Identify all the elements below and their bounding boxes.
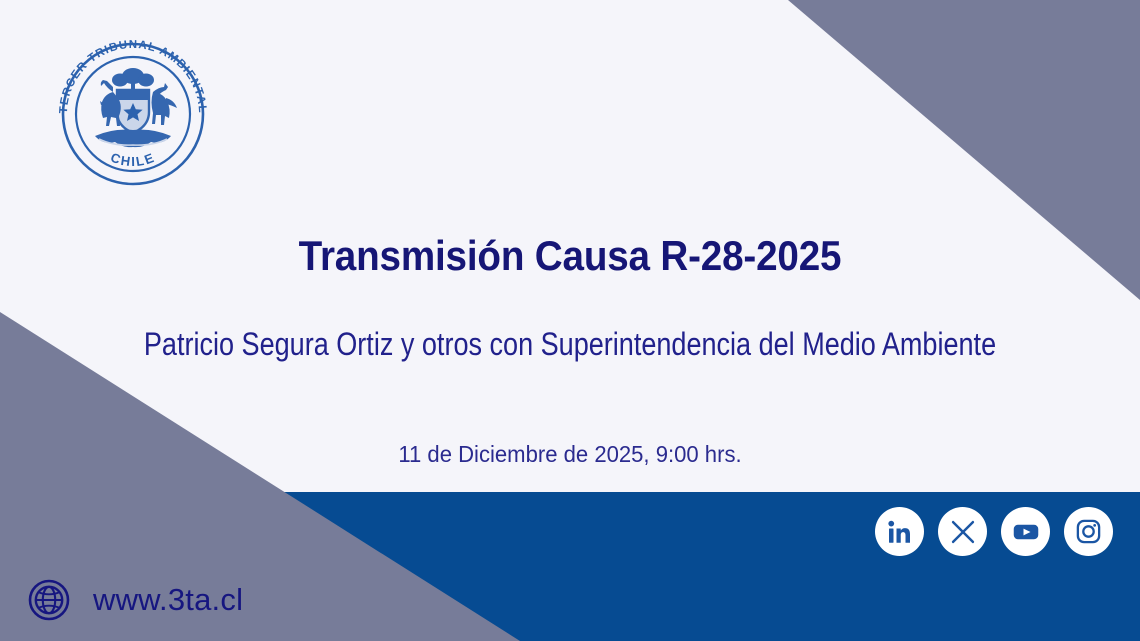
linkedin-icon[interactable] [875, 507, 924, 556]
presentation-slide: TERCER TRIBUNAL AMBIENTAL CHILE [0, 0, 1140, 641]
globe-icon [27, 578, 71, 622]
svg-text:CHILE: CHILE [109, 150, 158, 170]
case-parties-subtitle: Patricio Segura Ortiz y otros con Superi… [88, 326, 1051, 363]
website-footer: www.3ta.cl [27, 578, 243, 622]
hearing-datetime: 11 de Diciembre de 2025, 9:00 hrs. [23, 441, 1117, 468]
chile-coat-of-arms-icon [95, 68, 177, 147]
social-links [875, 507, 1113, 556]
page-title: Transmisión Causa R-28-2025 [46, 232, 1095, 280]
instagram-icon[interactable] [1064, 507, 1113, 556]
logo-bottom-text: CHILE [109, 150, 158, 170]
youtube-icon[interactable] [1001, 507, 1050, 556]
institution-logo: TERCER TRIBUNAL AMBIENTAL CHILE [47, 26, 219, 186]
website-url[interactable]: www.3ta.cl [93, 582, 243, 618]
x-twitter-icon[interactable] [938, 507, 987, 556]
